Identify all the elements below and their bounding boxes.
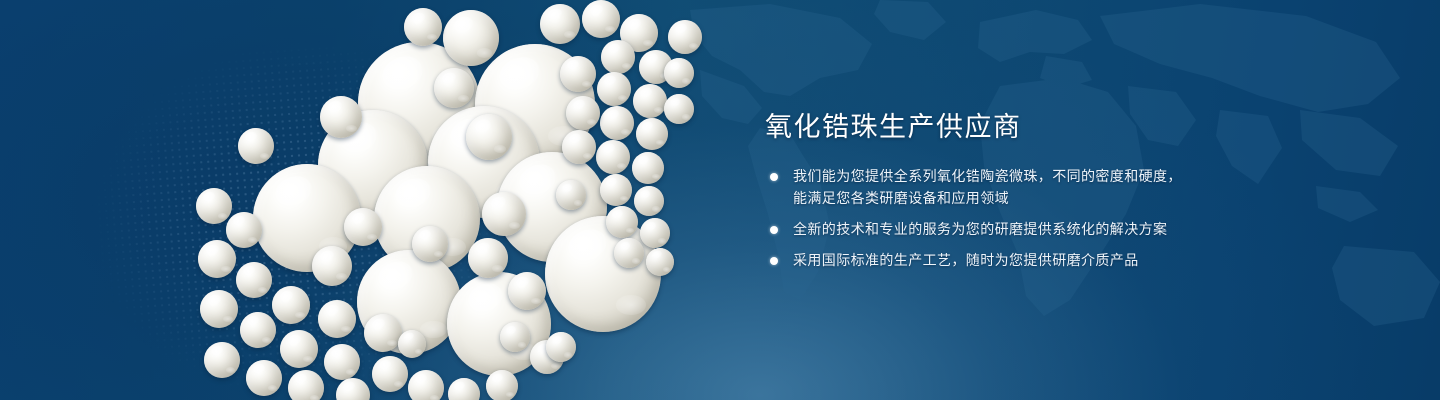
bead: [482, 192, 526, 236]
bead: [566, 96, 600, 130]
bead: [198, 240, 236, 278]
feature-list: 我们能为您提供全系列氧化锆陶瓷微珠，不同的密度和硬度， 能满足您各类研磨设备和应…: [765, 166, 1265, 272]
list-item-line: 采用国际标准的生产工艺，随时为您提供研磨介质产品: [793, 250, 1265, 272]
bead: [253, 164, 361, 272]
bead: [448, 378, 480, 400]
list-item: 全新的技术和专业的服务为您的研磨提供系统化的解决方案: [765, 219, 1265, 241]
bead: [582, 0, 620, 38]
bead: [633, 84, 667, 118]
list-item: 采用国际标准的生产工艺，随时为您提供研磨介质产品: [765, 250, 1265, 272]
bead: [500, 322, 530, 352]
bead: [486, 370, 518, 400]
bead: [508, 272, 546, 310]
bead: [204, 342, 240, 378]
bead: [318, 300, 356, 338]
bead: [364, 314, 402, 352]
bead: [246, 360, 282, 396]
bead: [601, 40, 635, 74]
bead: [597, 72, 631, 106]
banner-copy: 氧化锆珠生产供应商 我们能为您提供全系列氧化锆陶瓷微珠，不同的密度和硬度， 能满…: [765, 108, 1265, 272]
bead: [236, 262, 272, 298]
bullet-dot-icon: [770, 173, 778, 181]
hero-banner: 氧化锆珠生产供应商 我们能为您提供全系列氧化锆陶瓷微珠，不同的密度和硬度， 能满…: [0, 0, 1440, 400]
bead: [280, 330, 318, 368]
bead: [632, 152, 664, 184]
bead: [606, 206, 638, 238]
bead: [357, 250, 461, 354]
bead: [320, 96, 362, 138]
bead: [639, 50, 673, 84]
bead: [200, 290, 238, 328]
bead: [475, 44, 595, 164]
bead: [664, 58, 694, 88]
bullet-dot-icon: [770, 226, 778, 234]
bead: [412, 226, 448, 262]
bead: [344, 208, 382, 246]
bead: [312, 246, 352, 286]
list-item-line: 我们能为您提供全系列氧化锆陶瓷微珠，不同的密度和硬度，: [793, 166, 1265, 188]
bead: [318, 110, 428, 220]
bead: [600, 174, 632, 206]
bead: [614, 238, 644, 268]
bead: [398, 330, 426, 358]
list-item: 我们能为您提供全系列氧化锆陶瓷微珠，不同的密度和硬度， 能满足您各类研磨设备和应…: [765, 166, 1265, 210]
bullet-dot-icon: [770, 257, 778, 265]
bead: [443, 10, 499, 66]
page-title: 氧化锆珠生产供应商: [765, 108, 1265, 148]
bead: [336, 378, 370, 400]
bead: [497, 152, 607, 262]
bead: [636, 118, 668, 150]
bead: [596, 140, 630, 174]
bead: [428, 106, 540, 218]
bead: [646, 248, 674, 276]
bead: [545, 216, 661, 332]
bead: [562, 130, 596, 164]
bead: [620, 14, 658, 52]
bead: [560, 56, 596, 92]
bead: [434, 68, 474, 108]
bead: [358, 42, 480, 164]
bead: [556, 180, 586, 210]
bead: [226, 212, 262, 248]
bead: [546, 332, 576, 362]
bead: [600, 106, 634, 140]
bead: [372, 356, 408, 392]
bead: [530, 340, 564, 374]
bead: [288, 370, 324, 400]
bead: [468, 238, 508, 278]
bead: [668, 20, 702, 54]
bead: [466, 114, 512, 160]
halftone-dot-texture: [78, 26, 522, 400]
bead: [447, 272, 551, 376]
list-item-line: 能满足您各类研磨设备和应用领域: [793, 188, 1265, 210]
bead: [240, 312, 276, 348]
list-item-line: 全新的技术和专业的服务为您的研磨提供系统化的解决方案: [793, 219, 1265, 241]
bead: [374, 166, 480, 272]
bead: [634, 186, 664, 216]
bead: [404, 8, 442, 46]
bead: [640, 218, 670, 248]
bead: [664, 94, 694, 124]
bead: [408, 370, 444, 400]
bead: [540, 4, 580, 44]
bead: [196, 188, 232, 224]
bead: [324, 344, 360, 380]
bead: [272, 286, 310, 324]
bead: [238, 128, 274, 164]
